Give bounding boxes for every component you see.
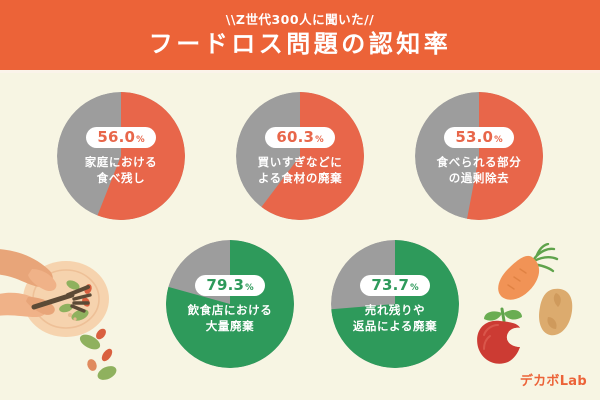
header-subtitle: \\Z世代300人に聞いた//	[226, 14, 374, 27]
infographic-page: \\Z世代300人に聞いた// フードロス問題の認知率 56.0 % 家庭におけ…	[0, 0, 600, 400]
pie-svg-5	[331, 240, 459, 368]
pie-card-2: 60.3 % 買いすぎなどに よる食材の廃棄	[236, 92, 364, 220]
pie-chart-1	[57, 92, 185, 220]
pie-chart-5	[331, 240, 459, 368]
pie-svg-3	[415, 92, 543, 220]
hands-scraping-plate-icon	[0, 243, 154, 397]
pie-chart-3	[415, 92, 543, 220]
food-waste-vegetables-icon	[462, 243, 592, 372]
page-title: フードロス問題の認知率	[149, 32, 452, 56]
pie-card-1: 56.0 % 家庭における 食べ残し	[57, 92, 185, 220]
pie-chart-4	[166, 240, 294, 368]
pie-card-4: 79.3 % 飲食店における 大量廃棄	[166, 240, 294, 368]
pie-card-5: 73.7 % 売れ残りや 返品による廃棄	[331, 240, 459, 368]
header-divider	[0, 70, 600, 73]
pie-card-3: 53.0 % 食べられる部分 の過剰除去	[415, 92, 543, 220]
page-header: \\Z世代300人に聞いた// フードロス問題の認知率	[0, 0, 600, 70]
pie-svg-1	[57, 92, 185, 220]
pie-svg-2	[236, 92, 364, 220]
brand-logo: デカボLab	[520, 375, 587, 388]
pie-svg-4	[166, 240, 294, 368]
pie-chart-2	[236, 92, 364, 220]
